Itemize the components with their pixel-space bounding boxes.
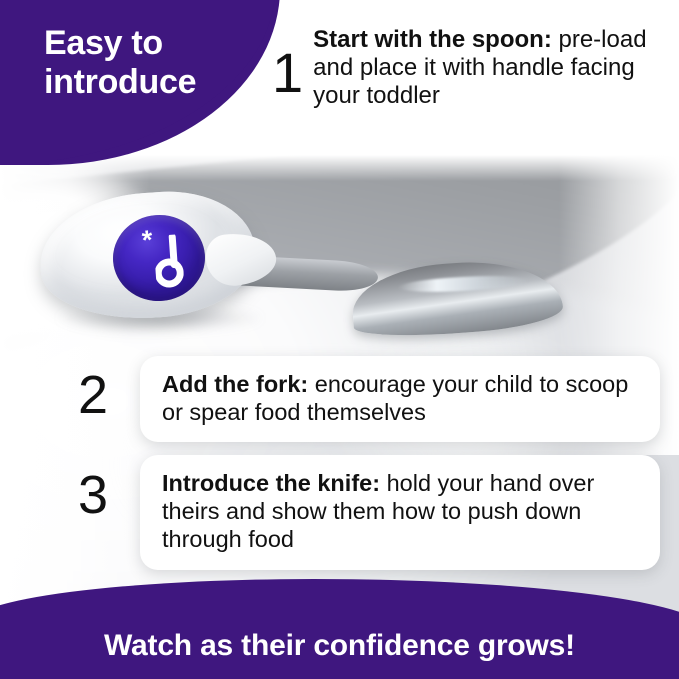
step-2-lead: Add the fork: xyxy=(162,371,315,397)
footer-banner: Watch as their confidence grows! xyxy=(0,569,679,679)
footer-tagline: Watch as their confidence grows! xyxy=(0,629,679,663)
step-2-number: 2 xyxy=(78,368,108,422)
infographic-poster: * Easy to introduce 1 Start with the spo… xyxy=(0,0,679,679)
page-title-line-1: Easy to xyxy=(44,24,279,63)
doddl-d-mark-icon xyxy=(153,234,185,291)
page-title-line-2: introduce xyxy=(44,63,279,102)
step-1-lead: Start with the spoon: xyxy=(313,26,558,53)
step-2-text: Add the fork: encourage your child to sc… xyxy=(162,370,638,426)
step-3-card: Introduce the knife: hold your hand over… xyxy=(140,455,660,570)
step-3-lead: Introduce the knife: xyxy=(162,470,387,496)
step-3-text: Introduce the knife: hold your hand over… xyxy=(162,469,638,554)
step-2-card: Add the fork: encourage your child to sc… xyxy=(140,356,660,442)
step-1-text: Start with the spoon: pre-load and place… xyxy=(313,22,672,109)
step-3-number: 3 xyxy=(78,468,108,522)
asterisk-icon: * xyxy=(141,227,153,255)
page-title: Easy to introduce xyxy=(44,24,279,103)
step-1: 1 Start with the spoon: pre-load and pla… xyxy=(272,22,672,109)
spoon-bowl xyxy=(350,256,564,340)
step-1-number: 1 xyxy=(272,22,303,99)
